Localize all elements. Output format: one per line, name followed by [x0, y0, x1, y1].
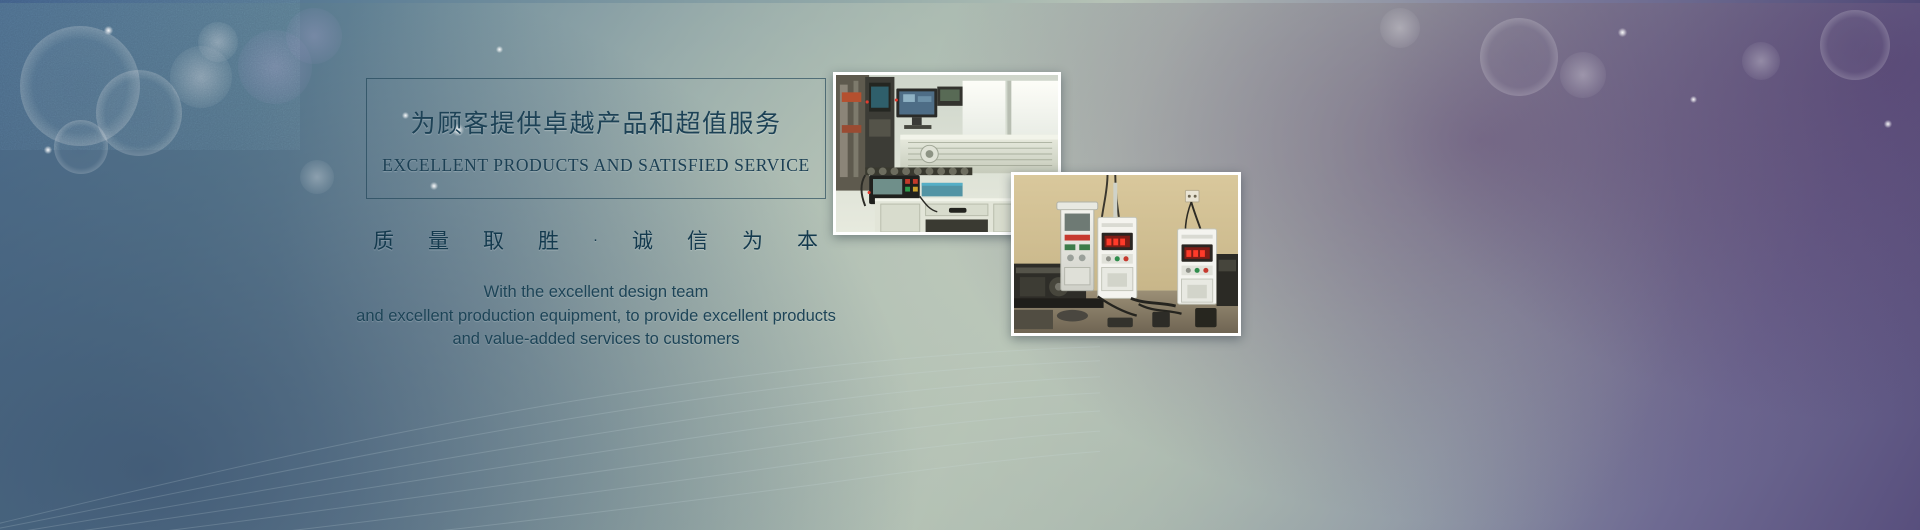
slogan-char: 为 — [742, 225, 764, 255]
description-paragraph: With the excellent design team and excel… — [316, 281, 876, 352]
bokeh-circle — [1742, 42, 1780, 80]
slogan-char: 本 — [797, 225, 819, 255]
bokeh-dot — [44, 146, 52, 154]
bokeh-circle — [1820, 10, 1890, 80]
bokeh-circle — [54, 120, 108, 174]
banner-root: 为顾客提供卓越产品和超值服务 EXCELLENT PRODUCTS AND SA… — [0, 0, 1920, 530]
photo-production-equipment-2 — [1011, 172, 1241, 336]
banner-text-block: 为顾客提供卓越产品和超值服务 EXCELLENT PRODUCTS AND SA… — [336, 78, 856, 352]
bokeh-circle — [1480, 18, 1558, 96]
paragraph-line: and excellent production equipment, to p… — [316, 305, 876, 329]
bokeh-circle — [170, 46, 232, 108]
grain-overlay — [0, 0, 300, 150]
bokeh-circle — [20, 26, 140, 146]
headline-bordered-box: 为顾客提供卓越产品和超值服务 EXCELLENT PRODUCTS AND SA… — [366, 78, 826, 199]
bokeh-dot — [1690, 96, 1697, 103]
slogan-separator: · — [593, 231, 599, 248]
slogan-char: 信 — [687, 225, 709, 255]
slogan-char: 量 — [428, 225, 450, 255]
bokeh-dot — [1618, 28, 1627, 37]
bokeh-circle — [300, 160, 334, 194]
bokeh-circle — [198, 22, 238, 62]
paragraph-line: With the excellent design team — [316, 281, 876, 305]
headline-chinese: 为顾客提供卓越产品和超值服务 — [377, 109, 815, 139]
top-edge-highlight — [0, 0, 1920, 3]
slogan-char: 取 — [483, 225, 505, 255]
paragraph-line: and value-added services to customers — [316, 328, 876, 352]
bokeh-circle — [96, 70, 182, 156]
slogan-char: 诚 — [632, 225, 654, 255]
bokeh-circle — [286, 8, 342, 64]
slogan-char: 质 — [373, 225, 395, 255]
bokeh-dot — [496, 46, 503, 53]
bokeh-circle — [238, 30, 312, 104]
slogan-char: 胜 — [538, 225, 560, 255]
slogan-chinese: 质 量 取 胜 · 诚 信 为 本 — [336, 225, 856, 255]
headline-english: EXCELLENT PRODUCTS AND SATISFIED SERVICE — [377, 155, 815, 176]
bokeh-circle — [1560, 52, 1606, 98]
bokeh-dot — [1884, 120, 1892, 128]
bokeh-circle — [1380, 8, 1420, 48]
bokeh-dot — [104, 26, 113, 35]
